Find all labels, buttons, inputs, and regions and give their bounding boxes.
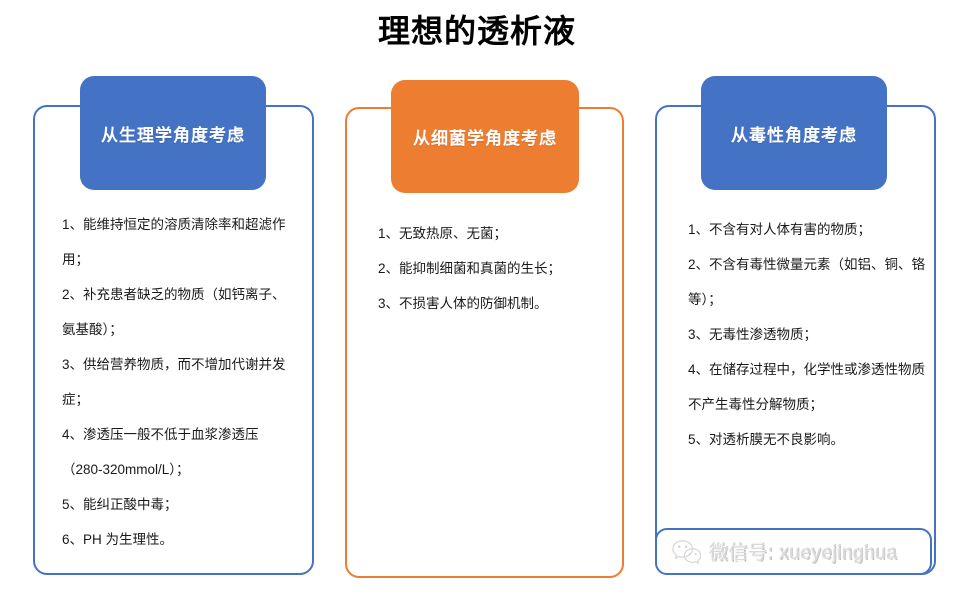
card-body-bacteriology: 1、无致热原、无菌； 2、能抑制细菌和真菌的生长； 3、不损害人体的防御机制。 xyxy=(378,216,610,321)
card-body-toxicity: 1、不含有对人体有害的物质； 2、不含有毒性微量元素（如铝、铜、铬等）； 3、无… xyxy=(688,212,928,457)
watermark-text: 微信号: xueyejinghua xyxy=(709,538,897,565)
header-label-toxicity: 从毒性角度考虑 xyxy=(731,121,857,146)
header-label-bacteriology: 从细菌学角度考虑 xyxy=(413,124,557,149)
card-body-physiology: 1、能维持恒定的溶质清除率和超滤作用； 2、补充患者缺乏的物质（如钙离子、氨基酸… xyxy=(62,207,294,557)
header-pill-physiology: 从生理学角度考虑 xyxy=(80,76,266,190)
header-pill-bacteriology: 从细菌学角度考虑 xyxy=(391,80,579,193)
header-pill-toxicity: 从毒性角度考虑 xyxy=(701,76,887,190)
page-title: 理想的透析液 xyxy=(0,8,954,54)
wechat-icon xyxy=(671,539,701,565)
header-label-physiology: 从生理学角度考虑 xyxy=(101,121,245,146)
watermark-badge: 微信号: xueyejinghua xyxy=(655,528,932,575)
